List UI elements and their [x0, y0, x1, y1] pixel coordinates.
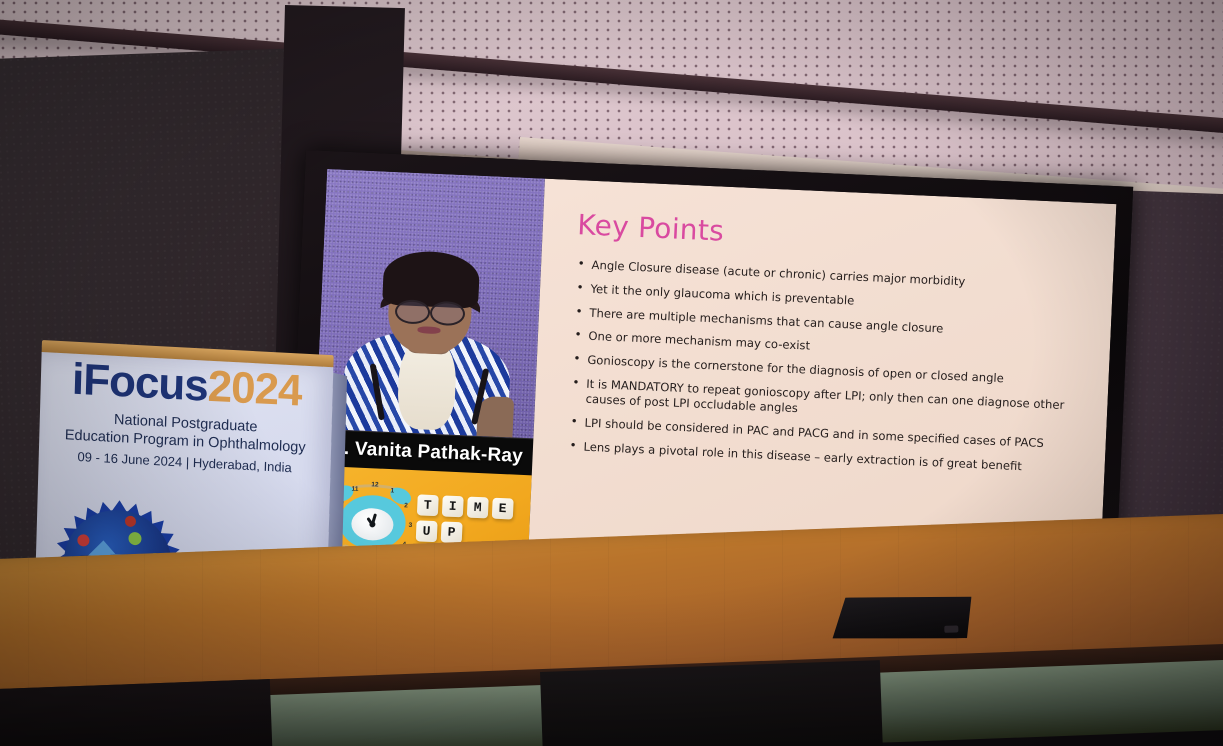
letter-tile-1: I [442, 496, 464, 518]
clock-numeral: 1 [390, 488, 394, 495]
clock-dial: 121234567891011 [351, 507, 395, 541]
mandala-dot-5 [77, 534, 89, 547]
clock-center-pin [369, 521, 375, 527]
letter-tile-0: T [417, 495, 439, 517]
letter-tile-1: P [441, 522, 463, 544]
speaker-name: Dr. Vanita Pathak-Ray [323, 437, 523, 468]
letter-tile-0: U [416, 521, 438, 543]
letter-tile-3: E [492, 498, 514, 520]
event-year: 2024 [207, 362, 302, 416]
clock-numeral: 11 [351, 486, 358, 493]
seating-shadow-center [540, 660, 883, 746]
event-brand: iFocus [71, 355, 208, 411]
seating-shadow-left [0, 679, 273, 746]
slide-title: Key Points [577, 208, 1090, 264]
clock-numeral: 2 [404, 502, 408, 509]
lectern-banner-text: iFocus2024 National Postgraduate Educati… [39, 356, 334, 477]
clock-numeral: 12 [371, 481, 379, 488]
letter-tile-2: M [467, 497, 489, 519]
clock-numeral: 3 [408, 522, 412, 529]
tiles-row-time: TIME [417, 495, 518, 520]
slide-bullet-list: Angle Closure disease (acute or chronic)… [567, 257, 1087, 477]
speaker-figure [342, 248, 516, 437]
eyeglasses-icon [395, 299, 466, 322]
lecture-hall-photo: Dr. Vanita Pathak-Ray [0, 0, 1223, 746]
speaker-video-feed [316, 169, 546, 438]
stage-monitor-speaker [831, 594, 972, 642]
